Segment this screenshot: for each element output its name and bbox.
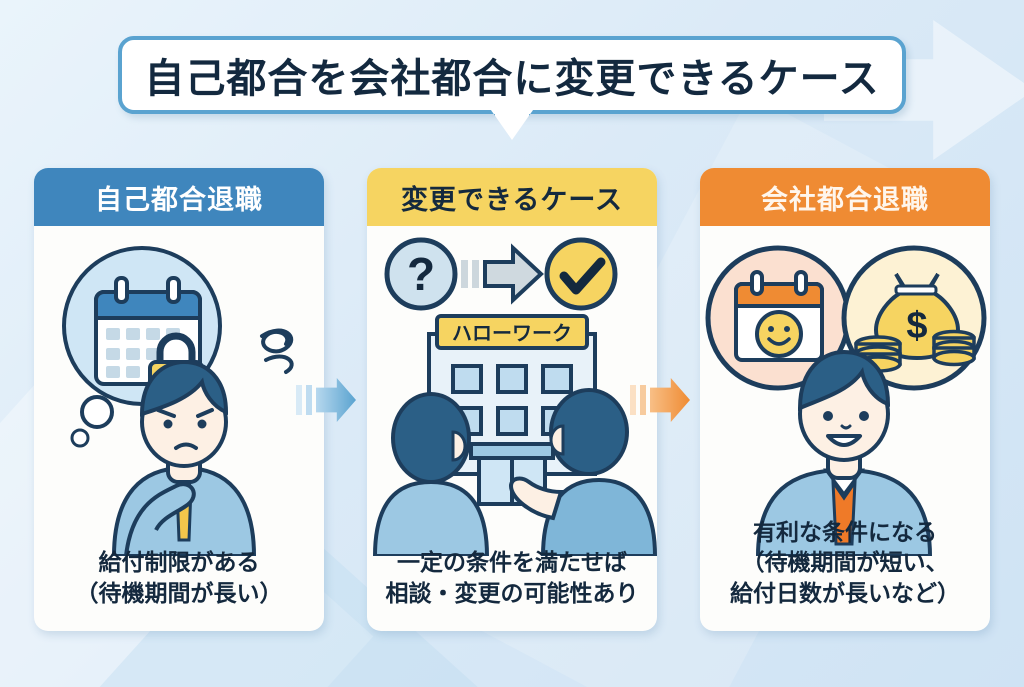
arrow-right-icon (461, 248, 541, 300)
arrow-ticks (296, 385, 312, 415)
title-banner: 自己都合を会社都合に変更できるケース (118, 36, 906, 114)
column-header-1: 自己都合退職 (34, 168, 324, 226)
question-mark-icon: ? (387, 240, 455, 308)
arrow-right-icon (316, 378, 356, 422)
connector-arrow-blue (296, 378, 356, 422)
money-symbol: $ (906, 305, 927, 347)
column-header-3: 会社都合退職 (700, 168, 990, 226)
connector-arrow-orange (630, 378, 690, 422)
spiral-worry-icon (262, 331, 292, 372)
illustration-happy-person: $ (700, 226, 990, 556)
title-box: 自己都合を会社都合に変更できるケース (118, 36, 906, 114)
illustration-consultation: ? (367, 226, 657, 556)
caption-line: （待機期間が長い） (34, 578, 324, 609)
svg-text:?: ? (407, 248, 435, 300)
arrow-ticks (630, 385, 646, 415)
check-circle-icon (547, 240, 615, 308)
column-body-3: $ (700, 226, 990, 631)
speech-bubble-tail-icon (491, 110, 533, 140)
arrow-right-icon (650, 378, 690, 422)
column-body-2: ? (367, 226, 657, 631)
column-caption-2: 一定の条件を満たせば 相談・変更の可能性あり (367, 547, 657, 609)
column-body-1: 給付制限がある （待機期間が長い） (34, 226, 324, 631)
column-header-2: 変更できるケース (367, 168, 657, 226)
column-card-changeable-cases: 変更できるケース ? (367, 168, 657, 631)
column-caption-1: 給付制限がある （待機期間が長い） (34, 547, 324, 609)
caption-line: 相談・変更の可能性あり (367, 578, 657, 609)
column-caption-3: 有利な条件になる （待機期間が短い、 給付日数が長いなど） (700, 517, 990, 609)
page-title: 自己都合を会社都合に変更できるケース (144, 46, 879, 104)
caption-line: （待機期間が短い、 (700, 547, 990, 578)
caption-line: 有利な条件になる (700, 517, 990, 548)
illustration-worried-person (34, 226, 324, 556)
caption-line: 給付制限がある (34, 547, 324, 578)
caption-line: 給付日数が長いなど） (700, 578, 990, 609)
building-sign-label: ハローワーク (452, 322, 572, 345)
caption-line: 一定の条件を満たせば (367, 547, 657, 578)
column-card-company-resignation: 会社都合退職 (700, 168, 990, 631)
column-card-self-resignation: 自己都合退職 (34, 168, 324, 631)
infographic-canvas: 自己都合を会社都合に変更できるケース 自己都合退職 (0, 0, 1024, 687)
